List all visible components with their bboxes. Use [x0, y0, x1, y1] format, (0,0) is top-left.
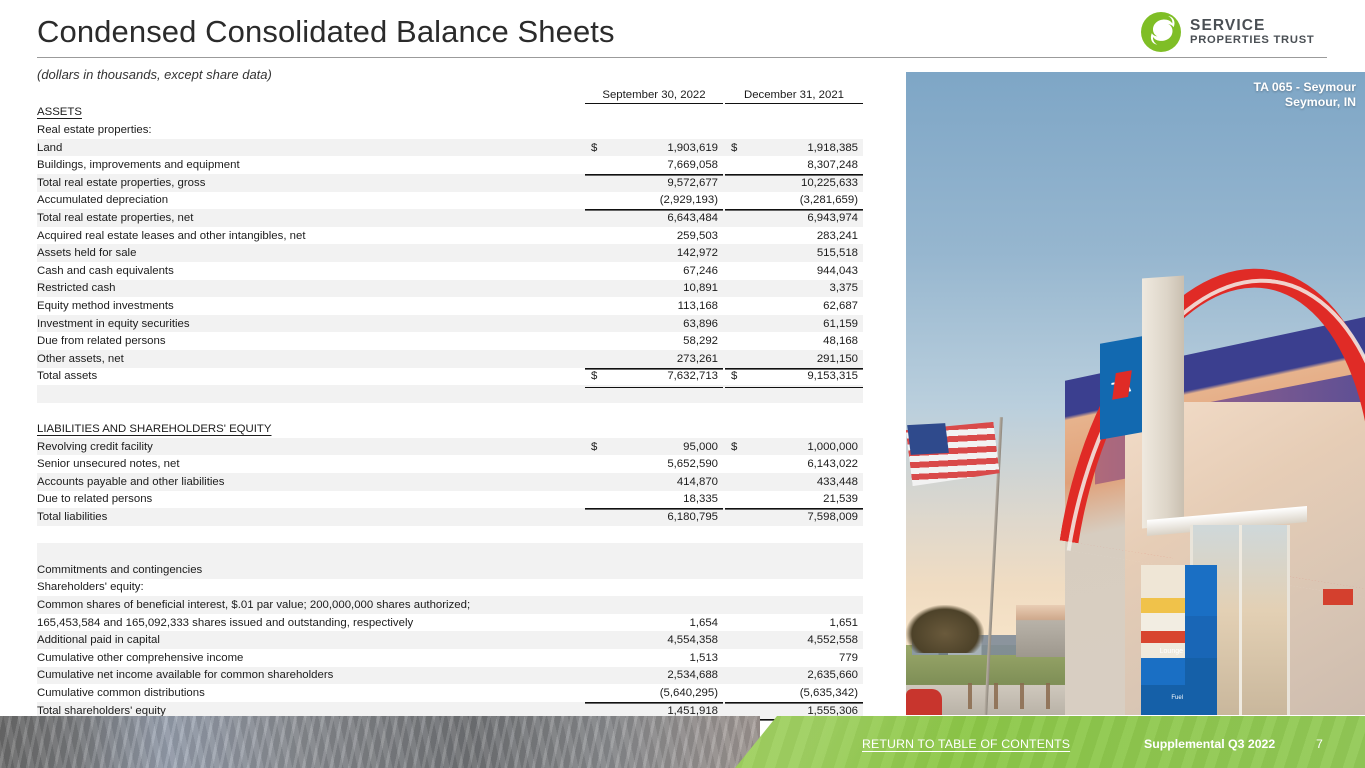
value-col-2: 6,943,974: [743, 209, 863, 227]
row-label: Total real estate properties, gross: [37, 174, 585, 192]
value-col-1: 7,669,058: [603, 156, 723, 174]
table-row: Restricted cash10,8913,375: [37, 280, 863, 298]
table-row: Equity method investments113,16862,687: [37, 297, 863, 315]
table-row: Accumulated depreciation(2,929,193)(3,28…: [37, 192, 863, 210]
table-row: Revolving credit facility$95,000$1,000,0…: [37, 438, 863, 456]
table-row: Common shares of beneficial interest, $.…: [37, 596, 863, 614]
currency-symbol-col-2: [725, 420, 743, 438]
value-col-2: 779: [743, 649, 863, 667]
row-label: [37, 526, 585, 544]
currency-symbol-col-2: [725, 350, 743, 368]
value-col-2: [743, 596, 863, 614]
value-col-2: [743, 121, 863, 139]
value-col-2: [743, 403, 863, 421]
value-col-1: 6,180,795: [603, 508, 723, 526]
value-col-2: 944,043: [743, 262, 863, 280]
currency-symbol-col-1: [585, 491, 603, 509]
value-col-1: [603, 596, 723, 614]
logo-wordmark: SERVICE PROPERTIES TRUST: [1190, 18, 1315, 47]
currency-symbol-col-2: [725, 649, 743, 667]
currency-symbol-col-1: [585, 315, 603, 333]
value-col-2: 3,375: [743, 280, 863, 298]
row-label: Commitments and contingencies: [37, 561, 585, 579]
currency-symbol-col-2: [725, 455, 743, 473]
value-col-2: 62,687: [743, 297, 863, 315]
row-label: Due from related persons: [37, 332, 585, 350]
currency-symbol-col-2: [725, 579, 743, 597]
interior-sign: [1323, 589, 1353, 605]
value-col-1: [603, 104, 723, 122]
table-row: Cash and cash equivalents67,246944,043: [37, 262, 863, 280]
value-col-2: 8,307,248: [743, 156, 863, 174]
table-row: Investment in equity securities63,89661,…: [37, 315, 863, 333]
value-col-2: [743, 543, 863, 561]
row-label: LIABILITIES AND SHAREHOLDERS' EQUITY: [37, 420, 585, 438]
row-label: Real estate properties:: [37, 121, 585, 139]
column-header-current: September 30, 2022: [585, 86, 723, 104]
value-col-1: 142,972: [603, 244, 723, 262]
value-col-2: (5,635,342): [743, 684, 863, 702]
currency-symbol-col-2: [725, 526, 743, 544]
currency-symbol-col-2: [725, 244, 743, 262]
table-row: Due from related persons58,29248,168: [37, 332, 863, 350]
currency-symbol-col-2: [725, 403, 743, 421]
value-col-1: 67,246: [603, 262, 723, 280]
currency-symbol-col-2: [725, 192, 743, 210]
value-col-1: 1,513: [603, 649, 723, 667]
row-label: Cash and cash equivalents: [37, 262, 585, 280]
row-label: Shareholders' equity:: [37, 579, 585, 597]
value-col-1: 9,572,677: [603, 174, 723, 192]
row-label: [37, 385, 585, 403]
value-col-1: [603, 420, 723, 438]
currency-symbol-col-1: [585, 473, 603, 491]
section-heading: ASSETS: [37, 106, 82, 118]
table-header-row: September 30, 2022 December 31, 2021: [37, 86, 863, 104]
currency-symbol-col-1: [585, 579, 603, 597]
value-col-1: 5,652,590: [603, 455, 723, 473]
slide: Condensed Consolidated Balance Sheets (d…: [0, 0, 1365, 768]
currency-symbol-col-1: [585, 561, 603, 579]
row-label: Total real estate properties, net: [37, 209, 585, 227]
currency-symbol-col-1: [585, 526, 603, 544]
value-col-2: 515,518: [743, 244, 863, 262]
table-row: Assets held for sale142,972515,518: [37, 244, 863, 262]
flag-canton: [907, 423, 949, 455]
currency-symbol-col-2: [725, 174, 743, 192]
value-col-1: (5,640,295): [603, 684, 723, 702]
currency-symbol-col-2: [725, 473, 743, 491]
table-row: ASSETS: [37, 104, 863, 122]
currency-symbol-col-1: [585, 262, 603, 280]
currency-symbol-col-2: [725, 280, 743, 298]
value-col-2: 48,168: [743, 332, 863, 350]
value-col-1: 95,000: [603, 438, 723, 456]
currency-symbol-col-1: [585, 455, 603, 473]
value-col-2: 2,635,660: [743, 667, 863, 685]
table-row: Due to related persons18,33521,539: [37, 491, 863, 509]
column-header-prior: December 31, 2021: [725, 86, 863, 104]
currency-symbol-col-1: [585, 174, 603, 192]
row-label: Common shares of beneficial interest, $.…: [37, 596, 585, 614]
currency-symbol-col-1: [585, 508, 603, 526]
currency-symbol-col-2: [725, 561, 743, 579]
value-col-1: [603, 579, 723, 597]
table-row: Commitments and contingencies: [37, 561, 863, 579]
currency-symbol-col-2: [725, 209, 743, 227]
row-label: [37, 543, 585, 561]
row-label: Cumulative net income available for comm…: [37, 667, 585, 685]
page-title: Condensed Consolidated Balance Sheets: [37, 14, 615, 50]
logo-line-1: SERVICE: [1190, 18, 1315, 35]
row-label: Additional paid in capital: [37, 631, 585, 649]
table-row: [37, 543, 863, 561]
currency-symbol-col-2: [725, 631, 743, 649]
value-col-1: 414,870: [603, 473, 723, 491]
section-heading: LIABILITIES AND SHAREHOLDERS' EQUITY: [37, 423, 271, 435]
table-row: Buildings, improvements and equipment7,6…: [37, 156, 863, 174]
row-label: ASSETS: [37, 104, 585, 122]
footer-building-image: [0, 716, 760, 768]
kiosk-label-secondary: Fuel: [1171, 695, 1183, 701]
value-col-1: 4,554,358: [603, 631, 723, 649]
currency-symbol-col-1: [585, 631, 603, 649]
title-divider: [37, 57, 1327, 58]
row-label: [37, 403, 585, 421]
currency-symbol-col-1: [585, 280, 603, 298]
currency-symbol-col-1: [585, 227, 603, 245]
row-label: Cumulative other comprehensive income: [37, 649, 585, 667]
row-label: Assets held for sale: [37, 244, 585, 262]
currency-symbol-col-1: [585, 121, 603, 139]
photo-caption-line-2: Seymour, IN: [1253, 95, 1356, 110]
currency-symbol-col-2: [725, 508, 743, 526]
currency-symbol-col-1: [585, 332, 603, 350]
value-col-2: [743, 420, 863, 438]
table-row: Cumulative other comprehensive income1,5…: [37, 649, 863, 667]
photo-caption-line-1: TA 065 - Seymour: [1253, 80, 1356, 95]
logo-line-2: PROPERTIES TRUST: [1190, 34, 1315, 46]
row-label: Total liabilities: [37, 508, 585, 526]
value-col-1: 273,261: [603, 350, 723, 368]
value-col-2: [743, 579, 863, 597]
value-col-2: [743, 561, 863, 579]
value-col-1: 1,654: [603, 614, 723, 632]
currency-symbol-col-2: [725, 667, 743, 685]
currency-symbol-col-1: [585, 156, 603, 174]
currency-symbol-col-2: [725, 543, 743, 561]
value-col-2: [743, 104, 863, 122]
value-col-2: 21,539: [743, 491, 863, 509]
value-col-1: 58,292: [603, 332, 723, 350]
currency-symbol-col-1: [585, 684, 603, 702]
value-col-1: [603, 403, 723, 421]
currency-symbol-col-2: [725, 227, 743, 245]
table-row: Accounts payable and other liabilities41…: [37, 473, 863, 491]
currency-symbol-col-1: [585, 192, 603, 210]
currency-symbol-col-1: $: [585, 438, 603, 456]
value-col-1: [603, 526, 723, 544]
table-row: [37, 403, 863, 421]
value-col-1: 2,534,688: [603, 667, 723, 685]
info-kiosk-secondary: [1185, 565, 1217, 715]
value-col-2: 1,918,385: [743, 139, 863, 157]
table-row: Cumulative net income available for comm…: [37, 667, 863, 685]
value-col-2: [743, 526, 863, 544]
currency-symbol-col-2: [725, 614, 743, 632]
row-label: Accounts payable and other liabilities: [37, 473, 585, 491]
value-col-1: [603, 561, 723, 579]
car: [906, 689, 942, 715]
value-col-1: (2,929,193): [603, 192, 723, 210]
service-properties-trust-logo-icon: [1141, 12, 1181, 52]
property-photo: TA Lounge Fuel TA 065 - Seymour Seymour,…: [906, 72, 1365, 715]
value-col-1: 18,335: [603, 491, 723, 509]
value-col-2: 433,448: [743, 473, 863, 491]
currency-symbol-col-2: [725, 156, 743, 174]
units-subtitle: (dollars in thousands, except share data…: [37, 67, 272, 82]
currency-symbol-col-1: [585, 596, 603, 614]
table-row: 165,453,584 and 165,092,333 shares issue…: [37, 614, 863, 632]
tree: [906, 605, 984, 653]
currency-symbol-col-2: [725, 332, 743, 350]
value-col-2: 283,241: [743, 227, 863, 245]
table-row: LIABILITIES AND SHAREHOLDERS' EQUITY: [37, 420, 863, 438]
value-col-1: [603, 121, 723, 139]
value-col-1: 113,168: [603, 297, 723, 315]
footer-page-number: 7: [1316, 737, 1323, 751]
header-spacer: [37, 86, 585, 104]
currency-symbol-col-1: $: [585, 368, 603, 386]
company-logo: SERVICE PROPERTIES TRUST: [1141, 12, 1315, 52]
currency-symbol-col-1: [585, 403, 603, 421]
sign-pylon: [1142, 276, 1184, 529]
currency-symbol-col-1: [585, 649, 603, 667]
table-row: Acquired real estate leases and other in…: [37, 227, 863, 245]
row-label: Investment in equity securities: [37, 315, 585, 333]
currency-symbol-col-2: $: [725, 368, 743, 386]
row-label: Equity method investments: [37, 297, 585, 315]
balance-sheet-table: September 30, 2022 December 31, 2021 ASS…: [37, 86, 863, 737]
table-row: Total real estate properties, net6,643,4…: [37, 209, 863, 227]
table-row: Real estate properties:: [37, 121, 863, 139]
value-col-1: [603, 543, 723, 561]
row-label: Acquired real estate leases and other in…: [37, 227, 585, 245]
currency-symbol-col-2: [725, 121, 743, 139]
value-col-2: 291,150: [743, 350, 863, 368]
value-col-1: 259,503: [603, 227, 723, 245]
table-row: Shareholders' equity:: [37, 579, 863, 597]
row-label: Buildings, improvements and equipment: [37, 156, 585, 174]
table-body: ASSETSReal estate properties:Land$1,903,…: [37, 104, 863, 737]
row-label: Total assets: [37, 368, 585, 386]
value-col-2: 7,598,009: [743, 508, 863, 526]
currency-symbol-col-1: [585, 350, 603, 368]
row-label: Restricted cash: [37, 280, 585, 298]
table-row: Land$1,903,619$1,918,385: [37, 139, 863, 157]
footer-supplemental-label: Supplemental Q3 2022: [1144, 737, 1275, 751]
value-col-2: 61,159: [743, 315, 863, 333]
currency-symbol-col-2: [725, 596, 743, 614]
value-col-2: (3,281,659): [743, 192, 863, 210]
value-col-2: 9,153,315: [743, 368, 863, 386]
row-label: Revolving credit facility: [37, 438, 585, 456]
value-col-1: 1,903,619: [603, 139, 723, 157]
row-label: Land: [37, 139, 585, 157]
currency-symbol-col-2: [725, 297, 743, 315]
value-col-2: 10,225,633: [743, 174, 863, 192]
currency-symbol-col-1: $: [585, 139, 603, 157]
currency-symbol-col-1: [585, 209, 603, 227]
value-col-1: 10,891: [603, 280, 723, 298]
row-label: Due to related persons: [37, 491, 585, 509]
table-row: Cumulative common distributions(5,640,29…: [37, 684, 863, 702]
value-col-2: 6,143,022: [743, 455, 863, 473]
currency-symbol-col-1: [585, 543, 603, 561]
value-col-2: 4,552,558: [743, 631, 863, 649]
row-label: Accumulated depreciation: [37, 192, 585, 210]
currency-symbol-col-2: [725, 262, 743, 280]
currency-symbol-col-1: [585, 104, 603, 122]
table-row: Total liabilities6,180,7957,598,009: [37, 508, 863, 526]
currency-symbol-col-2: $: [725, 438, 743, 456]
currency-symbol-col-1: [585, 297, 603, 315]
door-mullion: [1239, 525, 1242, 715]
return-to-table-of-contents-link[interactable]: RETURN TO TABLE OF CONTENTS: [862, 737, 1070, 751]
value-col-1: 63,896: [603, 315, 723, 333]
table-header: September 30, 2022 December 31, 2021: [37, 86, 863, 104]
currency-symbol-col-1: [585, 420, 603, 438]
value-col-2: 1,651: [743, 614, 863, 632]
table-row: [37, 526, 863, 544]
table-row: Senior unsecured notes, net5,652,5906,14…: [37, 455, 863, 473]
row-label: Senior unsecured notes, net: [37, 455, 585, 473]
currency-symbol-col-2: [725, 491, 743, 509]
value-col-2: 1,000,000: [743, 438, 863, 456]
currency-symbol-col-1: [585, 244, 603, 262]
value-col-1: 6,643,484: [603, 209, 723, 227]
kiosk-label: Lounge: [1160, 648, 1183, 655]
currency-symbol-col-2: [725, 104, 743, 122]
photo-caption: TA 065 - Seymour Seymour, IN: [1253, 80, 1356, 111]
table-row: Total assets$7,632,713$9,153,315: [37, 368, 863, 386]
table-row: Total real estate properties, gross9,572…: [37, 174, 863, 192]
info-kiosk: [1141, 565, 1185, 715]
currency-symbol-col-1: [585, 614, 603, 632]
currency-symbol-col-2: [725, 684, 743, 702]
row-label: 165,453,584 and 165,092,333 shares issue…: [37, 614, 585, 632]
row-label: Other assets, net: [37, 350, 585, 368]
currency-symbol-col-2: [725, 315, 743, 333]
currency-symbol-col-1: [585, 667, 603, 685]
row-label: Cumulative common distributions: [37, 684, 585, 702]
currency-symbol-col-2: $: [725, 139, 743, 157]
table-row: Additional paid in capital4,554,3584,552…: [37, 631, 863, 649]
table-row: Other assets, net273,261291,150: [37, 350, 863, 368]
value-col-1: 7,632,713: [603, 368, 723, 386]
